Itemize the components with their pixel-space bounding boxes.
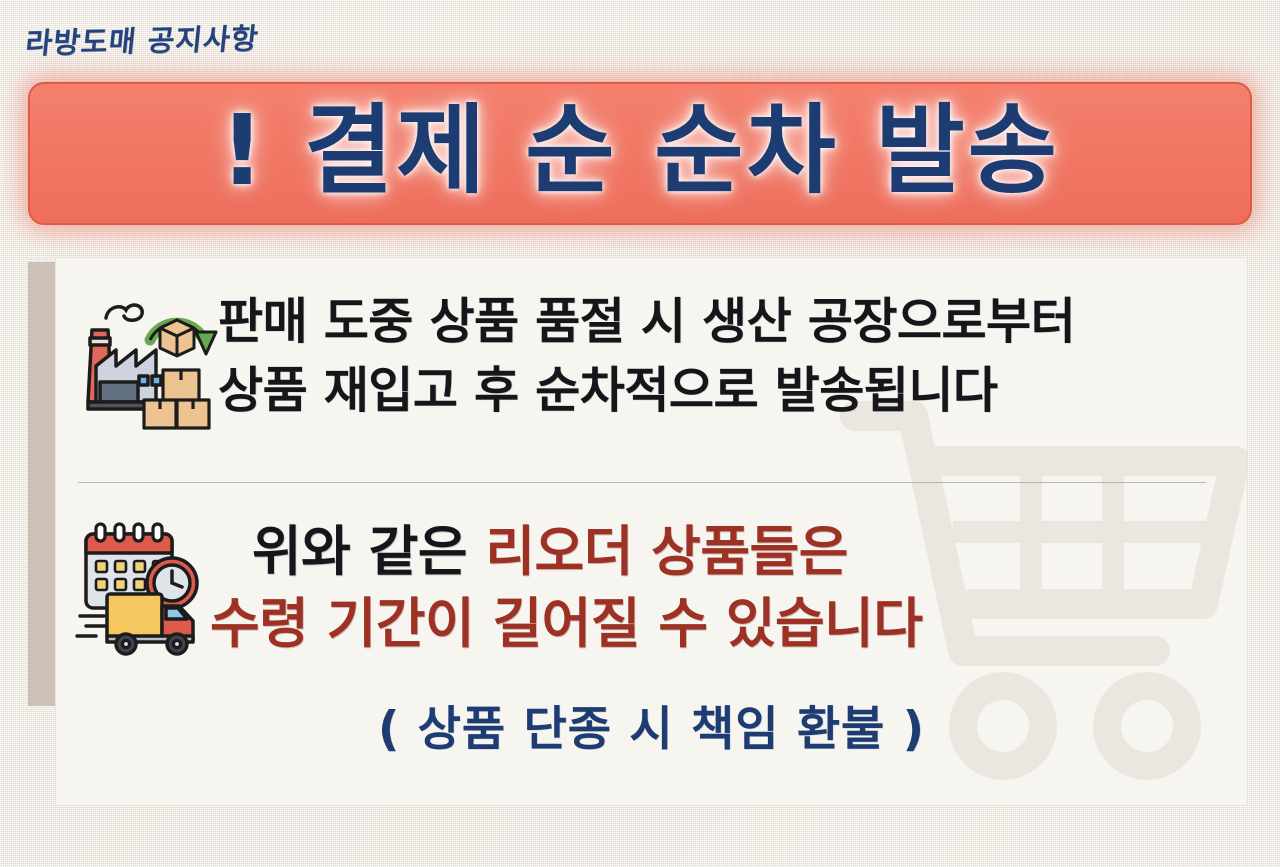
factory-line-1: 판매 도중 상품 품절 시 생산 공장으로부터 [218, 288, 1075, 357]
reorder-text-block: 위와 같은 리오더 상품들은 수령 기간이 길어질 수 있습니다 [210, 516, 923, 661]
notice-section-factory: 판매 도중 상품 품절 시 생산 공장으로부터 상품 재입고 후 순차적으로 발… [78, 282, 1075, 432]
section-divider [78, 482, 1206, 483]
notice-card: 판매 도중 상품 품절 시 생산 공장으로부터 상품 재입고 후 순차적으로 발… [55, 257, 1248, 806]
reorder-line-2: 수령 기간이 길어질 수 있습니다 [210, 588, 923, 660]
title-banner: ! 결제 순 순차 발송 [28, 82, 1252, 225]
notice-section-reorder: 위와 같은 리오더 상품들은 수령 기간이 길어질 수 있습니다 [74, 516, 923, 661]
brand-notice-heading: 라방도매 공지사항 [24, 16, 261, 63]
reorder-line-1-black: 위와 같은 [252, 520, 485, 583]
calendar-clock-truck-icon [74, 518, 210, 658]
factory-line-2: 상품 재입고 후 순차적으로 발송됩니다 [218, 357, 1075, 426]
reorder-line-1: 위와 같은 리오더 상품들은 [210, 516, 923, 588]
refund-note: ( 상품 단종 시 책임 환불 ) [56, 690, 1247, 759]
banner-title-text: ! 결제 순 순차 발송 [220, 102, 1060, 199]
reorder-line-1-red: 리오더 상품들은 [485, 520, 848, 583]
factory-reorder-icon [78, 282, 218, 432]
factory-text-block: 판매 도중 상품 품절 시 생산 공장으로부터 상품 재입고 후 순차적으로 발… [218, 288, 1075, 425]
